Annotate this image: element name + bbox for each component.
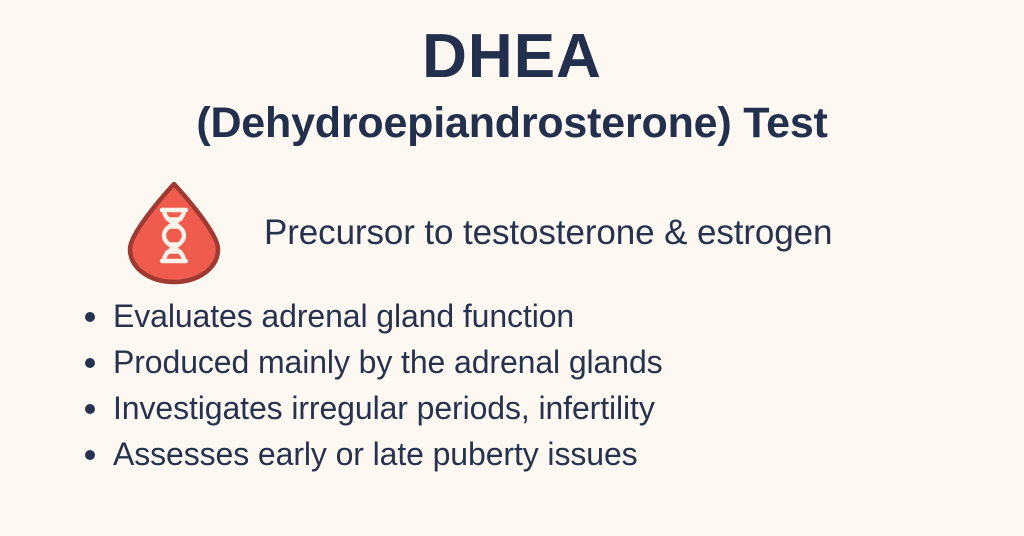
tagline-text: Precursor to testosterone & estrogen: [264, 181, 832, 285]
list-item: Assesses early or late puberty issues: [82, 432, 982, 478]
list-item-label: Produced mainly by the adrenal glands: [113, 345, 663, 380]
infographic-card: DHEA (Dehydroepiandrosterone) Test: [0, 0, 1024, 536]
list-item: Evaluates adrenal gland function: [82, 294, 982, 340]
list-item: Investigates irregular periods, infertil…: [82, 386, 982, 432]
list-item-label: Investigates irregular periods, infertil…: [113, 391, 655, 426]
tagline-row: Precursor to testosterone & estrogen: [120, 181, 980, 285]
bullet-dot-icon: [85, 358, 95, 368]
list-item: Produced mainly by the adrenal glands: [82, 340, 982, 386]
blood-drop-dna-icon: [120, 181, 228, 285]
page-subtitle: (Dehydroepiandrosterone) Test: [0, 102, 1024, 145]
title-block: DHEA (Dehydroepiandrosterone) Test: [0, 26, 1024, 145]
bullet-dot-icon: [85, 450, 95, 460]
list-item-label: Assesses early or late puberty issues: [113, 437, 638, 472]
page-title: DHEA: [0, 26, 1024, 88]
bullet-dot-icon: [85, 404, 95, 414]
key-points-list: Evaluates adrenal gland function Produce…: [82, 294, 982, 478]
list-item-label: Evaluates adrenal gland function: [113, 299, 574, 334]
bullet-dot-icon: [85, 312, 95, 322]
